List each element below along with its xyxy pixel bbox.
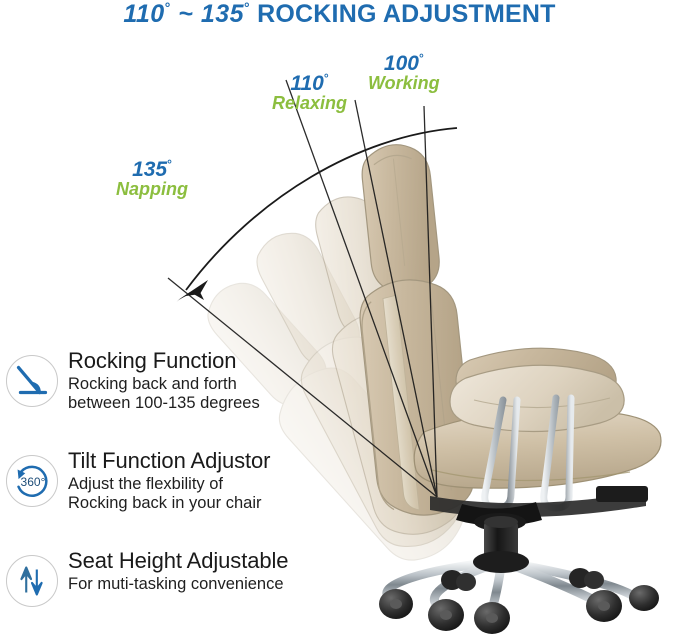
feature-tilt-function-adjustor: 360° Tilt Function Adjustor Adjust the f…: [6, 449, 346, 521]
seat-underframe: [430, 492, 646, 517]
feature-desc-line1: Adjust the flexbility of: [68, 475, 223, 493]
protractor-tick-marks: [308, 518, 679, 641]
height-adjust-arrows-icon: [6, 555, 58, 607]
title-angle-range: 110° ~ 135°: [123, 0, 250, 28]
feature-desc-line2: between 100-135 degrees: [68, 394, 346, 413]
feature-title: Seat Height Adjustable: [68, 549, 346, 574]
feature-desc-line2: Rocking back in your chair: [68, 494, 346, 513]
feature-seat-height-adjustable: Seat Height Adjustable For muti-tasking …: [6, 549, 346, 621]
chair-armrest-front: [450, 365, 624, 431]
gas-cylinder: [484, 520, 518, 564]
rotate-360-icon-label: 360°: [21, 475, 46, 489]
chair-casters: [379, 568, 659, 634]
callout-activity-label: Relaxing: [272, 94, 347, 112]
feature-list: Rocking Function Rocking back and forth …: [6, 349, 346, 641]
chair-seat: [414, 410, 661, 488]
chair-backrest: [356, 275, 477, 520]
degree-symbol: °: [165, 0, 171, 16]
feature-rocking-function: Rocking Function Rocking back and forth …: [6, 349, 346, 421]
title-tilde: ~: [178, 0, 193, 28]
armrest-chrome-support-right: [544, 398, 571, 508]
feature-desc-line1: For muti-tasking convenience: [68, 575, 284, 593]
callout-angle-value: 135°: [116, 158, 188, 180]
chair-main: [356, 141, 661, 634]
title-angle-high: 135: [201, 0, 244, 28]
callout-napping-135: 135° Napping: [116, 158, 188, 199]
recline-angle-icon: [6, 355, 58, 407]
chair-headrest: [359, 141, 442, 297]
title-main-text: ROCKING ADJUSTMENT: [257, 0, 556, 28]
armrest-chrome-support-left: [485, 400, 517, 508]
title-angle-low: 110: [123, 0, 164, 28]
callout-angle-value: 100°: [368, 52, 440, 74]
callout-activity-label: Napping: [116, 180, 188, 198]
recline-sweep-arrow: [176, 128, 457, 302]
degree-symbol: °: [244, 0, 250, 16]
chair-base-star: [387, 562, 636, 610]
callout-relaxing-110: 110° Relaxing: [272, 72, 347, 113]
feature-description: Rocking back and forth between 100-135 d…: [68, 375, 346, 413]
feature-desc-line1: Rocking back and forth: [68, 375, 237, 393]
page-title: 110° ~ 135°ROCKING ADJUSTMENT: [0, 0, 679, 34]
feature-title: Rocking Function: [68, 349, 346, 374]
callout-angle-value: 110°: [272, 72, 347, 94]
callout-working-100: 100° Working: [368, 52, 440, 93]
tilt-mechanism: [456, 502, 542, 526]
feature-description: Adjust the flexbility of Rocking back in…: [68, 475, 346, 513]
rotate-360-icon: 360°: [6, 455, 58, 507]
feature-title: Tilt Function Adjustor: [68, 449, 346, 474]
infographic-page: 110° ~ 135°ROCKING ADJUSTMENT: [0, 0, 679, 641]
callout-activity-label: Working: [368, 74, 440, 92]
feature-description: For muti-tasking convenience: [68, 575, 346, 594]
chair-armrest-back: [456, 348, 616, 407]
